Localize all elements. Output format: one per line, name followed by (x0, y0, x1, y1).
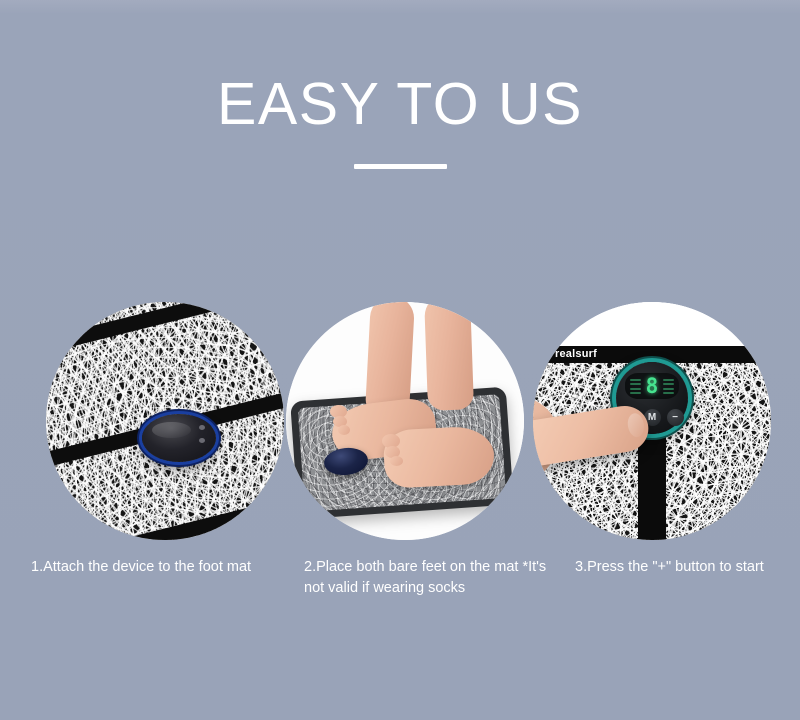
device-button-dot (199, 438, 205, 443)
step-3-scene: realsurf 8 (533, 302, 771, 540)
device-button-dot (199, 425, 205, 430)
ems-controller-device (142, 414, 216, 462)
led-display-screen: 8 (625, 373, 679, 399)
step-3-caption: 3.Press the "+" button to start (575, 557, 790, 578)
step-1-caption: 1.Attach the device to the foot mat (31, 557, 299, 578)
step-panel-1 (46, 302, 284, 540)
scene-backdrop (533, 302, 771, 350)
step-2-scene (286, 302, 524, 540)
toe (390, 456, 403, 466)
step-2-photo-circle (286, 302, 524, 540)
step-1-photo-circle (46, 302, 284, 540)
step-2-caption: 2.Place both bare feet on the mat *It's … (304, 557, 556, 599)
led-intensity-value: 8 (646, 376, 659, 397)
steps-panel-row: realsurf 8 (0, 302, 800, 540)
header: EASY TO US (0, 72, 800, 169)
led-bars-right-icon (663, 379, 674, 394)
step-3-photo-circle: realsurf 8 (533, 302, 771, 540)
right-leg (424, 302, 474, 411)
step-panel-2 (286, 302, 524, 540)
toe (338, 425, 350, 435)
brand-label: realsurf (555, 348, 597, 360)
led-bars-left-icon (630, 379, 641, 394)
decrease-button[interactable]: − (667, 409, 684, 426)
page-title: EASY TO US (0, 72, 800, 136)
step-panel-3: realsurf 8 (533, 302, 771, 540)
title-divider (354, 164, 447, 169)
infographic-page: EASY TO US (0, 0, 800, 720)
step-1-scene (46, 302, 284, 540)
